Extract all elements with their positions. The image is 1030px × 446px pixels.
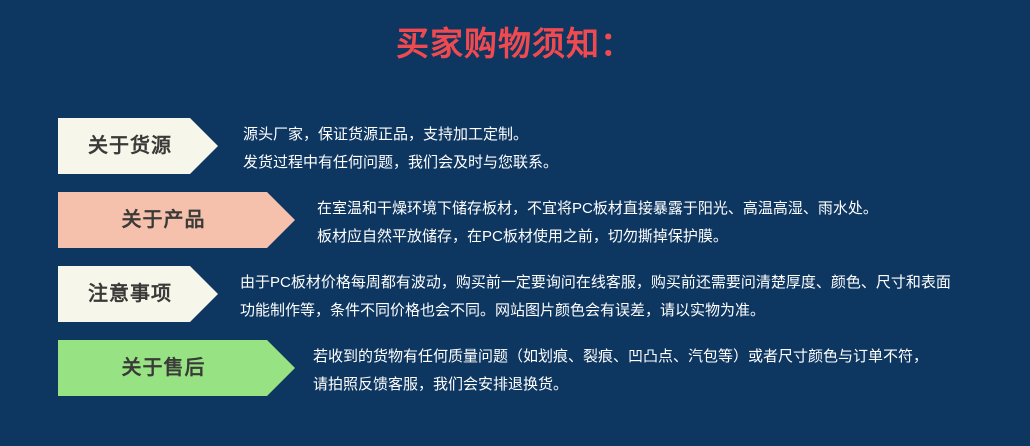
badge-about-source: 关于货源: [58, 118, 218, 174]
notice-text-line: 请拍照反馈客服，我们会安排退换货。: [313, 371, 928, 399]
notice-row: 关于售后 若收到的货物有任何质量问题（如划痕、裂痕、凹凸点、汽包等）或者尺寸颜色…: [0, 334, 1030, 408]
badge-after-sales: 关于售后: [58, 340, 295, 396]
notice-text: 若收到的货物有任何质量问题（如划痕、裂痕、凹凸点、汽包等）或者尺寸颜色与订单不符…: [313, 343, 928, 399]
notice-text-line: 板材应自然平放储存，在PC板材使用之前，切勿撕掉保护膜。: [317, 223, 878, 251]
notice-row: 关于货源 源头厂家，保证货源正品，支持加工定制。 发货过程中有任何问题，我们会及…: [0, 112, 1030, 186]
notice-row: 关于产品 在室温和干燥环境下储存板材，不宜将PC板材直接暴露于阳光、高温高湿、雨…: [0, 186, 1030, 260]
badge-label: 注意事项: [88, 284, 188, 304]
badge-precautions: 注意事项: [58, 266, 218, 322]
notice-text: 源头厂家，保证货源正品，支持加工定制。 发货过程中有任何问题，我们会及时与您联系…: [243, 121, 558, 177]
notice-text-line: 由于PC板材价格每周都有波动，购买前一定要询问在线客服，购买前还需要问清楚厚度、…: [240, 269, 951, 297]
buyer-notice-banner: 买家购物须知： 关于货源 源头厂家，保证货源正品，支持加工定制。 发货过程中有任…: [0, 0, 1030, 446]
notice-text-line: 功能制作等，条件不同价格也会不同。网站图片颜色会有误差，请以实物为准。: [240, 297, 951, 325]
notice-text-line: 发货过程中有任何问题，我们会及时与您联系。: [243, 149, 558, 177]
badge-label: 关于产品: [122, 210, 232, 230]
notice-text-line: 在室温和干燥环境下储存板材，不宜将PC板材直接暴露于阳光、高温高湿、雨水处。: [317, 195, 878, 223]
notice-text: 由于PC板材价格每周都有波动，购买前一定要询问在线客服，购买前还需要问清楚厚度、…: [240, 269, 951, 325]
badge-about-product: 关于产品: [58, 192, 295, 248]
badge-label: 关于货源: [88, 136, 188, 156]
page-title: 买家购物须知：: [0, 23, 1030, 65]
notice-rows: 关于货源 源头厂家，保证货源正品，支持加工定制。 发货过程中有任何问题，我们会及…: [0, 112, 1030, 408]
notice-text-line: 源头厂家，保证货源正品，支持加工定制。: [243, 121, 558, 149]
notice-text: 在室温和干燥环境下储存板材，不宜将PC板材直接暴露于阳光、高温高湿、雨水处。 板…: [317, 195, 878, 251]
notice-row: 注意事项 由于PC板材价格每周都有波动，购买前一定要询问在线客服，购买前还需要问…: [0, 260, 1030, 334]
badge-label: 关于售后: [122, 358, 232, 378]
notice-text-line: 若收到的货物有任何质量问题（如划痕、裂痕、凹凸点、汽包等）或者尺寸颜色与订单不符…: [313, 343, 928, 371]
